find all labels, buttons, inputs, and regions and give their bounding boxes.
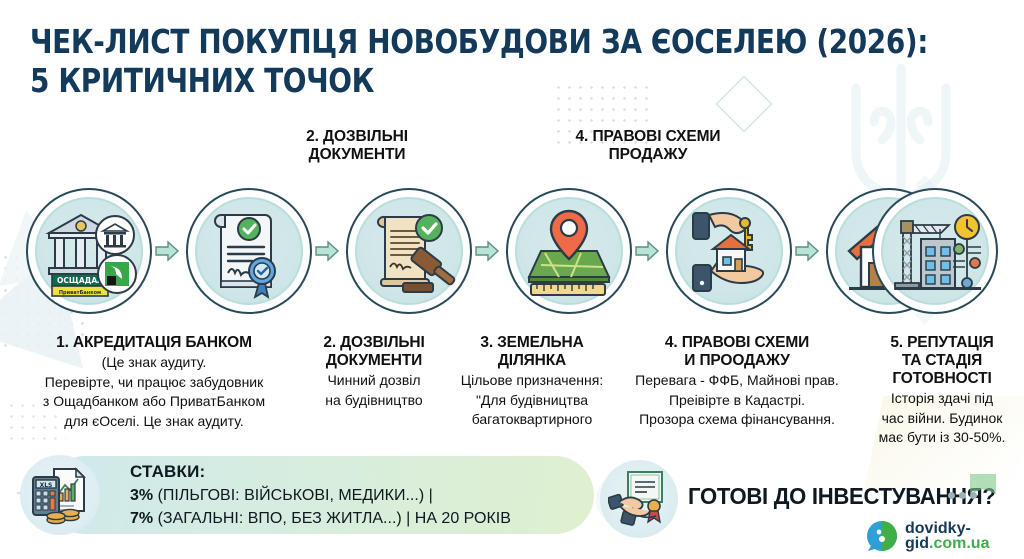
flow-node-4-ring [506, 188, 632, 314]
flow-node-3[interactable] [346, 188, 472, 314]
step-1-body-line1: (Це знак аудиту. [4, 354, 304, 372]
step-4-title-line1: 4. ПРАВОВІ СХЕМИ [614, 334, 860, 352]
step-3-title-line1: 3. ЗЕМЕЛЬНА [448, 334, 616, 352]
flow-node-4[interactable] [506, 188, 632, 314]
svg-text:XLS: XLS [40, 482, 53, 489]
logo-text: dovidky- gid.com.ua [905, 521, 989, 551]
step-2-title-line2: ДОКУМЕНТИ [300, 352, 448, 370]
step-4-title-line2: И ПРООДАЖУ [614, 352, 860, 370]
step-1-body-line4: для єОселі. Це знак аудиту. [4, 413, 304, 431]
step-1-title-line1: 1. АКРЕДИТАЦІЯ БАНКОМ [4, 334, 304, 352]
step-2-top-label-line1: 2. ДОЗВІЛЬНІ [262, 128, 452, 146]
flow-node-3-ring [346, 188, 472, 314]
step-4-body-line3: Прозора схема фінансування. [614, 411, 860, 429]
step-4-body-line2: Преівірте в Кадастрі. [614, 392, 860, 410]
step-3-title-line2: ДІЛЯНКА [448, 352, 616, 370]
green-flag-decoration-icon [966, 470, 1000, 500]
step-2-title-line1: 2. ДОЗВІЛЬНІ [300, 334, 448, 352]
step-5-title-line2: ТА СТАДІЯ [862, 352, 1022, 370]
construction-crane-clock-icon [883, 199, 987, 303]
step-1-body-line3: з Ощадбанком або ПриватБанком [4, 393, 304, 411]
step-5-body-line1: Історія здачі під [862, 390, 1022, 408]
page-title: ЧЕК-ЛИСТ ПОКУПЦЯ НОВОБУДОВИ ЗА ЄОСЕЛЕЮ (… [30, 22, 932, 100]
flow-node-2-ring [186, 188, 312, 314]
flow-arrow-5 [794, 240, 820, 262]
step-5-title-line1: 5. РЕПУТАЦІЯ [862, 334, 1022, 352]
cta-icon-circle [600, 460, 678, 538]
rates-line-1-percent: 3% [130, 487, 153, 504]
flow-arrow-1 [154, 240, 180, 262]
flow-node-1[interactable]: ОСЩАДАА ПриватБанком [26, 188, 152, 314]
rates-line-2: 7% (ЗАГАЛЬНІ: ВПО, БЕЗ ЖИТЛА...) | НА 20… [130, 507, 600, 530]
handshake-certificate-icon [608, 468, 670, 530]
rates-line-1: 3% (ПІЛЬГОВІ: ВІЙСЬКОВІ, МЕДИКИ...) | [130, 484, 600, 507]
step-5-title-line3: ГОТОВНОСТІ [862, 370, 1022, 388]
page-title-line2: 5 КРИТИЧНИХ ТОЧОК [30, 61, 932, 100]
step-3-body-line2: "Для будівництва [448, 392, 616, 410]
step-5-body-line2: час війни. Будинок [862, 410, 1022, 428]
step-5-body-line3: має бути із 30-50%. [862, 429, 1022, 447]
svg-text:ПриватБанком: ПриватБанком [59, 290, 101, 296]
step-4-top-label-line1: 4. ПРАВОВІ СХЕМИ [536, 128, 760, 146]
rates-line-2-text: (ЗАГАЛЬНІ: ВПО, БЕЗ ЖИТЛА...) | НА 20 РО… [153, 510, 511, 527]
flow-arrow-2 [314, 240, 340, 262]
calculator-chart-coins-icon: XLS [28, 463, 92, 527]
infographic-canvas: + ЧЕК-ЛИСТ ПОКУПЦЯ НОВОБУДОВИ ЗА ЄОСЕЛЕЮ… [0, 0, 1024, 559]
step-3-body-line3: багатоквартирного [448, 411, 616, 429]
rates-line-1-text: (ПІЛЬГОВІ: ВІЙСЬКОВІ, МЕДИКИ...) | [153, 487, 433, 504]
flow-arrow-3 [474, 240, 500, 262]
rates-line-2-percent: 7% [130, 510, 153, 527]
svg-text:ОСЩАДАА: ОСЩАДАА [57, 276, 103, 285]
rates-heading: СТАВКИ: [130, 460, 600, 484]
step-3-body-line1: Цільове призначення: [448, 372, 616, 390]
step-block-5: 5. РЕПУТАЦІЯ ТА СТАДІЯ ГОТОВНОСТІ Історі… [862, 334, 1022, 447]
step-block-4: 4. ПРАВОВІ СХЕМИ И ПРООДАЖУ Перевага - Ф… [614, 334, 860, 429]
map-pin-land-plot-icon [519, 201, 619, 301]
bank-accreditation-icon: ОСЩАДАА ПриватБанком [35, 197, 143, 305]
logo-text-domain: .com.ua [929, 535, 989, 552]
step-2-top-label-line2: ДОКУМЕНТИ [262, 146, 452, 164]
step-1-body-line2: Перевірте, чи працює забудовник [4, 374, 304, 392]
flow-node-2[interactable] [186, 188, 312, 314]
rates-text: СТАВКИ: 3% (ПІЛЬГОВІ: ВІЙСЬКОВІ, МЕДИКИ.… [130, 460, 600, 530]
certified-document-icon [199, 201, 299, 301]
page-title-line1: ЧЕК-ЛИСТ ПОКУПЦЯ НОВОБУДОВИ ЗА ЄОСЕЛЕЮ (… [30, 22, 928, 61]
flow-node-5[interactable] [666, 188, 792, 314]
step-2-top-label: 2. ДОЗВІЛЬНІ ДОКУМЕНТИ [262, 128, 452, 164]
step-2-body-line2: на будівництво [300, 392, 448, 410]
step-block-3: 3. ЗЕМЕЛЬНА ДІЛЯНКА Цільове призначення:… [448, 334, 616, 429]
speech-bubble-logo-icon [866, 520, 898, 552]
flow-node-1-ring: ОСЩАДАА ПриватБанком [26, 188, 152, 314]
flow-node-5-ring [666, 188, 792, 314]
flow-node-7-ring [872, 188, 998, 314]
step-block-1: 1. АКРЕДИТАЦІЯ БАНКОМ (Це знак аудиту. П… [4, 334, 304, 430]
step-4-top-label-line2: ПРОДАЖУ [536, 146, 760, 164]
step-block-2: 2. ДОЗВІЛЬНІ ДОКУМЕНТИ Чинний дозвіл на … [300, 334, 448, 409]
process-flow-row: ОСЩАДАА ПриватБанком [0, 188, 1024, 314]
flow-node-7[interactable] [872, 188, 998, 314]
flow-arrow-4 [634, 240, 660, 262]
rates-icon-circle: XLS [20, 455, 100, 535]
logo-text-line2: gid.com.ua [905, 536, 989, 551]
logo-text-gid: gid [905, 535, 929, 552]
scroll-gavel-icon [359, 201, 459, 301]
step-4-top-label: 4. ПРАВОВІ СХЕМИ ПРОДАЖУ [536, 128, 760, 164]
step-2-body-line1: Чинний дозвіл [300, 372, 448, 390]
step-4-body-line1: Перевага - ФФБ, Майнові прав. [614, 372, 860, 390]
site-logo[interactable]: dovidky- gid.com.ua [866, 520, 989, 552]
hands-house-key-icon [679, 201, 779, 301]
